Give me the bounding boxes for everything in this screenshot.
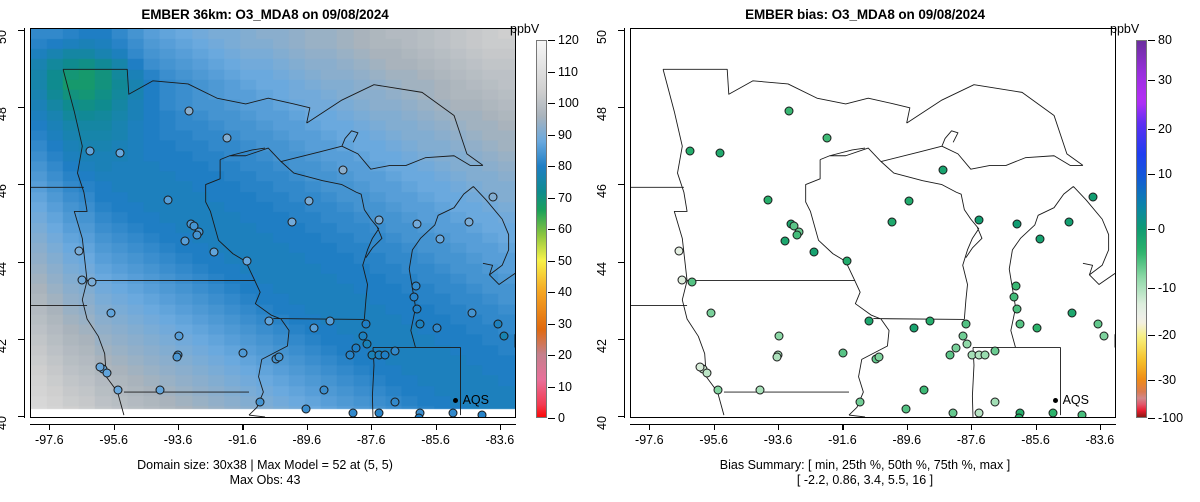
colorbar-tick <box>548 229 555 230</box>
bias-point <box>784 106 793 115</box>
x-tick <box>778 424 779 430</box>
bias-point <box>990 347 999 356</box>
bias-point <box>707 308 716 317</box>
obs-point <box>75 247 84 256</box>
bias-point <box>948 409 957 418</box>
obs-point <box>413 220 422 229</box>
obs-point <box>361 320 370 329</box>
y-tick <box>618 339 624 340</box>
aqs-legend-label: AQS <box>1063 393 1089 407</box>
bias-point <box>887 218 896 227</box>
bias-points <box>631 29 1115 417</box>
obs-point <box>348 409 357 418</box>
obs-point <box>363 339 372 348</box>
bias-point <box>1048 409 1057 418</box>
obs-point <box>464 218 473 227</box>
obs-point <box>305 196 314 205</box>
obs-point <box>500 331 509 340</box>
obs-point <box>467 308 476 317</box>
obs-point <box>210 247 219 256</box>
x-tick-label: -83.6 <box>1086 433 1115 447</box>
aqs-legend-model: AQS <box>453 393 489 407</box>
colorbar-tick-label: 70 <box>558 191 572 205</box>
aqs-dot-icon <box>1053 398 1058 403</box>
bias-point <box>1035 235 1044 244</box>
obs-point <box>352 343 361 352</box>
x-tick-label: -97.6 <box>35 433 64 447</box>
colorbar-gradient <box>1136 40 1147 418</box>
obs-point <box>239 349 248 358</box>
y-tick <box>618 30 624 31</box>
map-plot-bias: AQS <box>630 28 1116 418</box>
x-tick-label: -87.6 <box>957 433 986 447</box>
colorbar-tick-label: 0 <box>558 411 565 425</box>
x-tick <box>371 424 372 430</box>
colorbar-tick-label: 60 <box>558 222 572 236</box>
panel-title-bias: EMBER bias: O3_MDA8 on 09/08/2024 <box>600 7 1130 22</box>
x-tick <box>436 424 437 430</box>
map-plot-model: AQS <box>30 28 516 418</box>
y-tick <box>618 416 624 417</box>
x-tick <box>114 424 115 430</box>
obs-point <box>192 230 201 239</box>
y-tick-label: 42 <box>595 339 609 353</box>
colorbar-tick <box>548 40 555 41</box>
bias-point <box>775 331 784 340</box>
obs-point <box>416 320 425 329</box>
obs-point <box>88 277 97 286</box>
colorbar-tick <box>1148 288 1155 289</box>
colorbar-tick <box>548 418 555 419</box>
obs-point <box>339 165 348 174</box>
bias-point <box>1014 413 1023 418</box>
colorbar-title: ppbV <box>510 22 539 36</box>
colorbar-tick <box>1148 174 1155 175</box>
y-tick-label: 40 <box>0 416 9 430</box>
y-tick <box>618 107 624 108</box>
bias-point <box>678 275 687 284</box>
bias-point <box>855 397 864 406</box>
obs-point <box>85 147 94 156</box>
obs-point <box>184 106 193 115</box>
y-tick <box>18 107 24 108</box>
obs-point <box>488 192 497 201</box>
bias-point <box>902 405 911 414</box>
colorbar-tick-label: 80 <box>558 159 572 173</box>
bias-point <box>1010 293 1019 302</box>
y-tick-label: 42 <box>0 339 9 353</box>
caption-bias-summary-header: Bias Summary: [ min, 25th %, 50th %, 75t… <box>600 458 1130 473</box>
colorbar-tick-label: 110 <box>558 65 578 79</box>
colorbar-tick <box>548 72 555 73</box>
obs-point <box>326 316 335 325</box>
colorbar-tick <box>1148 40 1155 41</box>
bias-point <box>1032 324 1041 333</box>
x-tick <box>1036 424 1037 430</box>
x-tick-label: -89.6 <box>293 433 322 447</box>
colorbar-tick <box>1148 129 1155 130</box>
obs-point <box>78 275 87 284</box>
obs-point <box>432 324 441 333</box>
colorbar-tick-label: 90 <box>558 128 572 142</box>
bias-point <box>939 165 948 174</box>
obs-point <box>113 386 122 395</box>
bias-point <box>1013 304 1022 313</box>
colorbar-tick <box>548 166 555 167</box>
obs-point <box>411 281 420 290</box>
bias-point <box>713 386 722 395</box>
bias-point <box>1100 331 1109 340</box>
y-tick <box>618 184 624 185</box>
obs-point <box>265 316 274 325</box>
bias-point <box>974 216 983 225</box>
panel-model: EMBER 36km: O3_MDA8 on 09/08/2024 AQS -9… <box>0 0 600 502</box>
x-tick-label: -93.6 <box>164 433 193 447</box>
caption-domain-size: Domain size: 30x38 | Max Model = 52 at (… <box>0 458 530 473</box>
colorbar-tick-label: 20 <box>1158 122 1172 136</box>
obs-point <box>374 409 383 418</box>
y-tick <box>18 339 24 340</box>
x-tick-label: -87.6 <box>357 433 386 447</box>
x-tick <box>649 424 650 430</box>
bias-point <box>781 237 790 246</box>
obs-point <box>255 397 264 406</box>
obs-point <box>173 353 182 362</box>
y-tick-label: 48 <box>0 107 9 121</box>
x-tick <box>842 424 843 430</box>
aqs-dot-icon <box>453 398 458 403</box>
colorbar-tick-label: 10 <box>1158 167 1172 181</box>
colorbar-tick <box>548 198 555 199</box>
obs-point <box>390 397 399 406</box>
obs-point <box>319 386 328 395</box>
y-axis-line <box>24 28 25 418</box>
x-tick-label: -89.6 <box>893 433 922 447</box>
obs-point <box>310 324 319 333</box>
y-tick-label: 46 <box>595 184 609 198</box>
obs-point <box>102 368 111 377</box>
x-tick-label: -97.6 <box>635 433 664 447</box>
bias-point <box>1067 308 1076 317</box>
bias-point <box>952 343 961 352</box>
colorbar-tick <box>1148 335 1155 336</box>
obs-point <box>493 320 502 329</box>
figure-root: EMBER 36km: O3_MDA8 on 09/08/2024 AQS -9… <box>0 0 1200 502</box>
colorbar-tick-label: 50 <box>558 254 572 268</box>
colorbar-tick <box>548 292 555 293</box>
y-tick <box>18 30 24 31</box>
x-axis-line <box>630 424 1116 425</box>
bias-point <box>926 316 935 325</box>
y-tick <box>618 262 624 263</box>
obs-point <box>413 304 422 313</box>
y-tick-label: 46 <box>0 184 9 198</box>
bias-point <box>773 353 782 362</box>
bias-point <box>1077 411 1086 418</box>
colorbar-tick <box>548 324 555 325</box>
y-axis-line <box>624 28 625 418</box>
y-tick-label: 44 <box>595 262 609 276</box>
y-tick <box>18 184 24 185</box>
obs-point <box>223 133 232 142</box>
x-tick-label: -83.6 <box>486 433 515 447</box>
panel-title-model: EMBER 36km: O3_MDA8 on 09/08/2024 <box>0 7 530 22</box>
x-tick-label: -85.6 <box>1021 433 1050 447</box>
bias-point <box>792 230 801 239</box>
bias-point <box>961 320 970 329</box>
colorbar-tick-label: 30 <box>1158 73 1172 87</box>
obs-point <box>435 235 444 244</box>
panel-bias: EMBER bias: O3_MDA8 on 09/08/2024 AQS -9… <box>600 0 1200 502</box>
bias-point <box>990 397 999 406</box>
bias-point <box>919 386 928 395</box>
obs-point <box>181 237 190 246</box>
colorbar-tick <box>548 387 555 388</box>
bias-point <box>1093 320 1102 329</box>
colorbar-tick <box>1148 229 1155 230</box>
colorbar-tick-label: -30 <box>1158 373 1176 387</box>
obs-point <box>107 308 116 317</box>
colorbar-tick <box>1148 80 1155 81</box>
bias-point <box>1011 281 1020 290</box>
colorbar-tick-label: 20 <box>558 348 572 362</box>
obs-point <box>345 351 354 360</box>
x-tick <box>714 424 715 430</box>
colorbar-tick <box>548 261 555 262</box>
colorbar-tick-label: 120 <box>558 33 579 47</box>
bias-point <box>910 324 919 333</box>
x-tick <box>49 424 50 430</box>
colorbar-tick-label: -100 <box>1158 411 1183 425</box>
bias-point <box>945 351 954 360</box>
obs-point <box>381 351 390 360</box>
colorbar-tick <box>548 103 555 104</box>
colorbar-tick-label: 100 <box>558 96 579 110</box>
bias-point <box>763 196 772 205</box>
bias-point <box>842 256 851 265</box>
x-tick-label: -95.6 <box>99 433 128 447</box>
bias-point <box>685 147 694 156</box>
colorbar-tick <box>548 135 555 136</box>
obs-point <box>175 331 184 340</box>
aqs-legend-label: AQS <box>463 393 489 407</box>
y-tick-label: 44 <box>0 262 9 276</box>
obs-point <box>390 347 399 356</box>
bias-point <box>865 316 874 325</box>
obs-point <box>374 216 383 225</box>
bias-point <box>810 247 819 256</box>
obs-point <box>302 405 311 414</box>
x-tick <box>307 424 308 430</box>
bias-point <box>823 133 832 142</box>
colorbar-gradient <box>536 40 547 418</box>
x-tick <box>500 424 501 430</box>
x-axis-line <box>30 424 516 425</box>
obs-point <box>115 148 124 157</box>
bias-point <box>874 353 883 362</box>
colorbar-tick-label: -20 <box>1158 328 1176 342</box>
y-tick-label: 50 <box>595 30 609 44</box>
bias-point <box>839 349 848 358</box>
x-tick-label: -85.6 <box>421 433 450 447</box>
obs-point <box>155 386 164 395</box>
bias-point <box>1088 192 1097 201</box>
obs-point <box>163 196 172 205</box>
bias-point <box>1016 320 1025 329</box>
bias-point <box>1013 220 1022 229</box>
colorbar-tick-label: 10 <box>558 380 572 394</box>
colorbar-tick-label: -10 <box>1158 281 1176 295</box>
y-tick-label: 40 <box>595 416 609 430</box>
colorbar-title: ppbV <box>1110 22 1139 36</box>
obs-point <box>448 409 457 418</box>
colorbar-tick <box>1148 418 1155 419</box>
obs-point <box>477 411 486 418</box>
colorbar-tick <box>1148 380 1155 381</box>
bias-point <box>981 351 990 360</box>
colorbar-tick-label: 80 <box>1158 33 1172 47</box>
bias-point <box>702 368 711 377</box>
y-tick <box>18 262 24 263</box>
y-tick-label: 50 <box>0 30 9 44</box>
bias-point <box>688 277 697 286</box>
x-tick <box>178 424 179 430</box>
colorbar-tick-label: 30 <box>558 317 572 331</box>
obs-point <box>242 256 251 265</box>
x-tick <box>907 424 908 430</box>
x-tick-label: -93.6 <box>764 433 793 447</box>
colorbar-tick-label: 0 <box>1158 222 1165 236</box>
bias-point <box>755 386 764 395</box>
obs-point <box>410 293 419 302</box>
observation-points-model <box>31 29 515 417</box>
obs-point <box>287 218 296 227</box>
obs-point <box>414 413 423 418</box>
bias-point <box>675 247 684 256</box>
x-tick-label: -95.6 <box>699 433 728 447</box>
x-tick <box>242 424 243 430</box>
aqs-legend-bias: AQS <box>1053 393 1089 407</box>
bias-point <box>1064 218 1073 227</box>
caption-bias-summary-values: [ -2.2, 0.86, 3.4, 5.5, 16 ] <box>600 473 1130 488</box>
caption-max-obs: Max Obs: 43 <box>0 473 530 488</box>
colorbar-tick-label: 40 <box>558 285 572 299</box>
x-tick <box>971 424 972 430</box>
obs-point <box>274 353 283 362</box>
bias-point <box>715 148 724 157</box>
bias-point <box>974 409 983 418</box>
bias-point <box>905 196 914 205</box>
y-tick-label: 48 <box>595 107 609 121</box>
colorbar-tick <box>548 355 555 356</box>
bias-point <box>963 339 972 348</box>
y-tick <box>18 416 24 417</box>
x-tick-label: -91.6 <box>228 433 257 447</box>
x-tick <box>1100 424 1101 430</box>
x-tick-label: -91.6 <box>828 433 857 447</box>
